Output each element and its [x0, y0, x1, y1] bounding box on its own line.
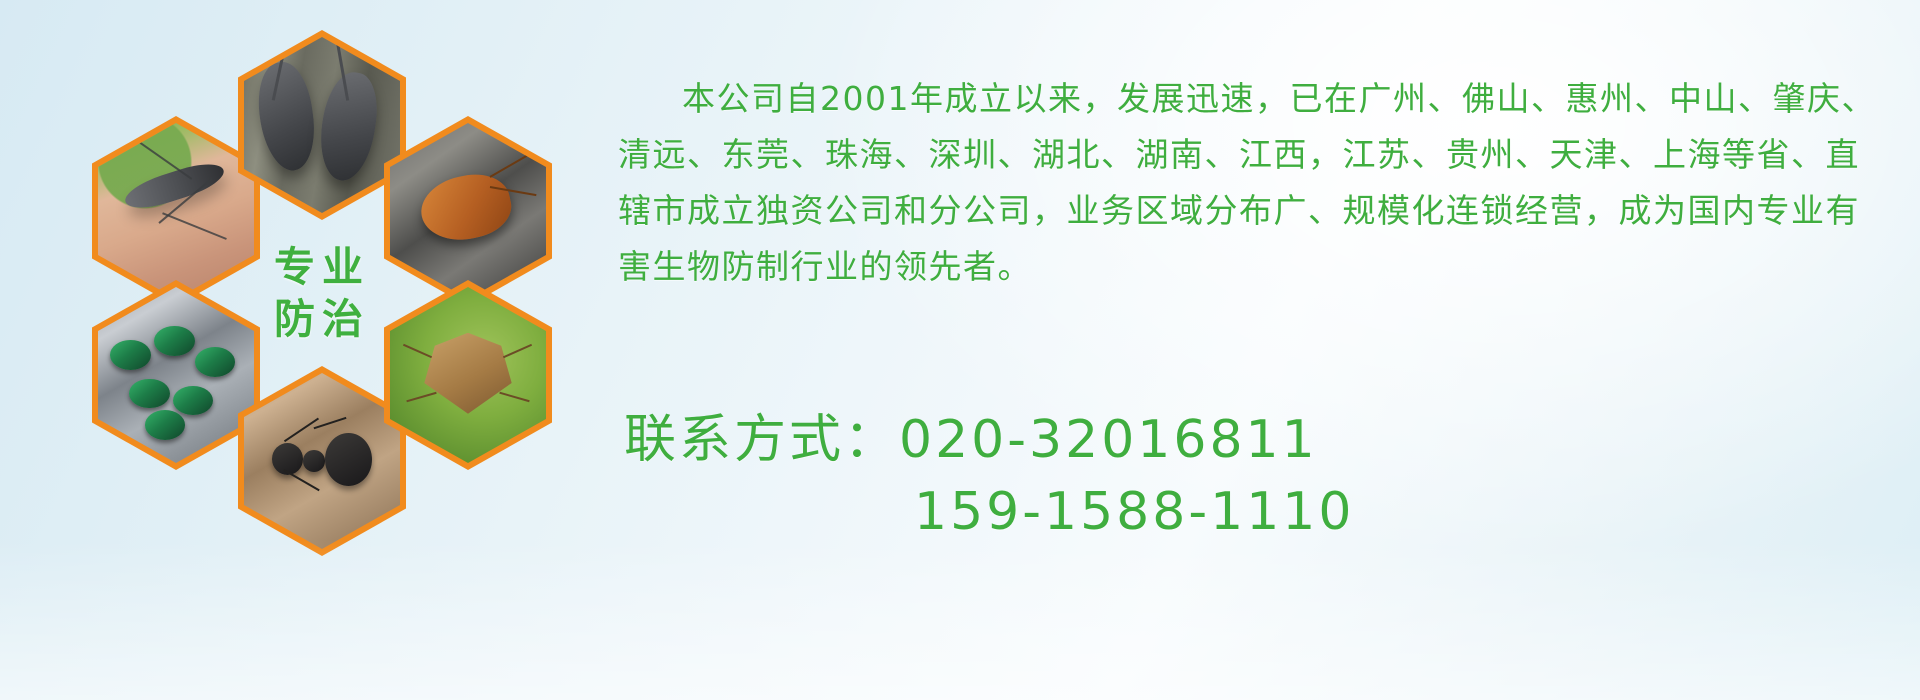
ant-photo	[244, 373, 400, 549]
cockroach-photo	[390, 123, 546, 299]
rats-photo	[244, 37, 400, 213]
hex-cell-rats	[238, 30, 406, 220]
contact-block: 联系方式：020-32016811 159-1588-1110	[624, 404, 1904, 548]
mosquito-photo	[98, 123, 254, 299]
hex-cell-flies	[92, 280, 260, 470]
intro-paragraph: 本公司自2001年成立以来，发展迅速，已在广州、佛山、惠州、中山、肇庆、清远、东…	[618, 71, 1878, 295]
contact-label: 联系方式：	[624, 410, 899, 470]
hex-cell-center-label: 专业 防治	[238, 198, 406, 388]
hex-cell-ant	[238, 366, 406, 556]
contact-secondary-line[interactable]: 159-1588-1110	[624, 476, 1904, 548]
flies-photo	[98, 287, 254, 463]
contact-primary-line[interactable]: 联系方式：020-32016811	[624, 404, 1904, 476]
stink-bug-photo	[390, 287, 546, 463]
intro-text-block: 本公司自2001年成立以来，发展迅速，已在广州、佛山、惠州、中山、肇庆、清远、东…	[618, 38, 1878, 328]
pest-control-banner: 专业 防治 本公司自2001年成立以来，发展迅速，已在广州、佛山、惠州、中山、肇…	[0, 0, 1920, 700]
phone-primary[interactable]: 020-32016811	[899, 410, 1318, 470]
honeycomb-label-line2: 防治	[274, 293, 370, 345]
phone-secondary[interactable]: 159-1588-1110	[914, 482, 1354, 542]
hex-cell-cockroach	[384, 116, 552, 306]
hex-cell-mosquito	[92, 116, 260, 306]
honeycomb-label-line1: 专业	[274, 241, 370, 293]
honeycomb-collage: 专业 防治	[92, 8, 612, 568]
hex-cell-stink-bug	[384, 280, 552, 470]
